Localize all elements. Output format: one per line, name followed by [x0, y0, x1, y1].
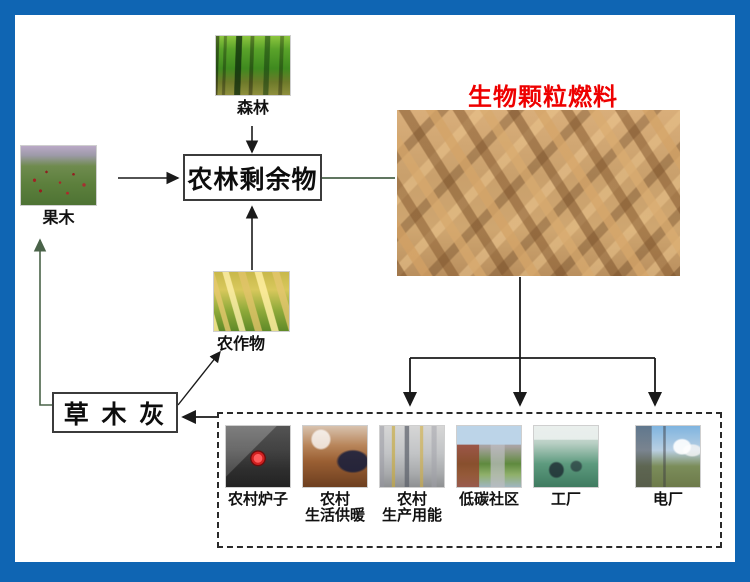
rural-stove-caption: 农村炉子 [225, 491, 291, 507]
low-carbon-community-photo [456, 425, 522, 488]
connector-ash-to-crops [178, 352, 220, 405]
residue-box-label: 农林剩余物 [187, 160, 317, 196]
rural-production-energy-photo [379, 425, 445, 488]
forest-caption: 森林 [215, 99, 291, 116]
forest-photo [215, 35, 291, 96]
residue-box[interactable]: 农林剩余物 [183, 154, 322, 201]
factory-photo [533, 425, 599, 488]
power-plant-photo [635, 425, 701, 488]
application-item-low-carbon-community[interactable]: 低碳社区 [456, 425, 522, 504]
application-item-rural-heating[interactable]: 农村 生活供暖 [302, 425, 368, 520]
crops-photo [213, 271, 290, 332]
application-item-rural-production[interactable]: 农村 生产用能 [379, 425, 445, 520]
diagram-canvas: 森林 果木 农作物 农林剩余物 草 木 灰 生物颗粒燃料 农村炉子 农村 生活供… [15, 15, 735, 562]
fruit-tree-photo [20, 145, 97, 206]
wood-pellets-photo [397, 110, 680, 276]
low-carbon-community-caption: 低碳社区 [450, 491, 528, 507]
rural-heating-caption: 农村 生活供暖 [302, 491, 368, 523]
product-title: 生物颗粒燃料 [468, 77, 618, 112]
connector-ash-to-fruit [40, 240, 52, 405]
poster-frame: 森林 果木 农作物 农林剩余物 草 木 灰 生物颗粒燃料 农村炉子 农村 生活供… [0, 0, 750, 582]
rural-production-caption: 农村 生产用能 [379, 491, 445, 523]
factory-caption: 工厂 [533, 491, 599, 507]
application-item-factory[interactable]: 工厂 [533, 425, 599, 504]
crops-caption: 农作物 [211, 335, 311, 352]
ash-box[interactable]: 草 木 灰 [52, 392, 178, 433]
rural-stove-photo [225, 425, 291, 488]
application-item-rural-stove[interactable]: 农村炉子 [225, 425, 291, 504]
rural-heating-photo [302, 425, 368, 488]
ash-box-label: 草 木 灰 [64, 395, 166, 431]
power-plant-caption: 电厂 [635, 491, 701, 507]
fruit-tree-caption: 果木 [20, 209, 97, 226]
application-item-power-plant[interactable]: 电厂 [635, 425, 701, 504]
